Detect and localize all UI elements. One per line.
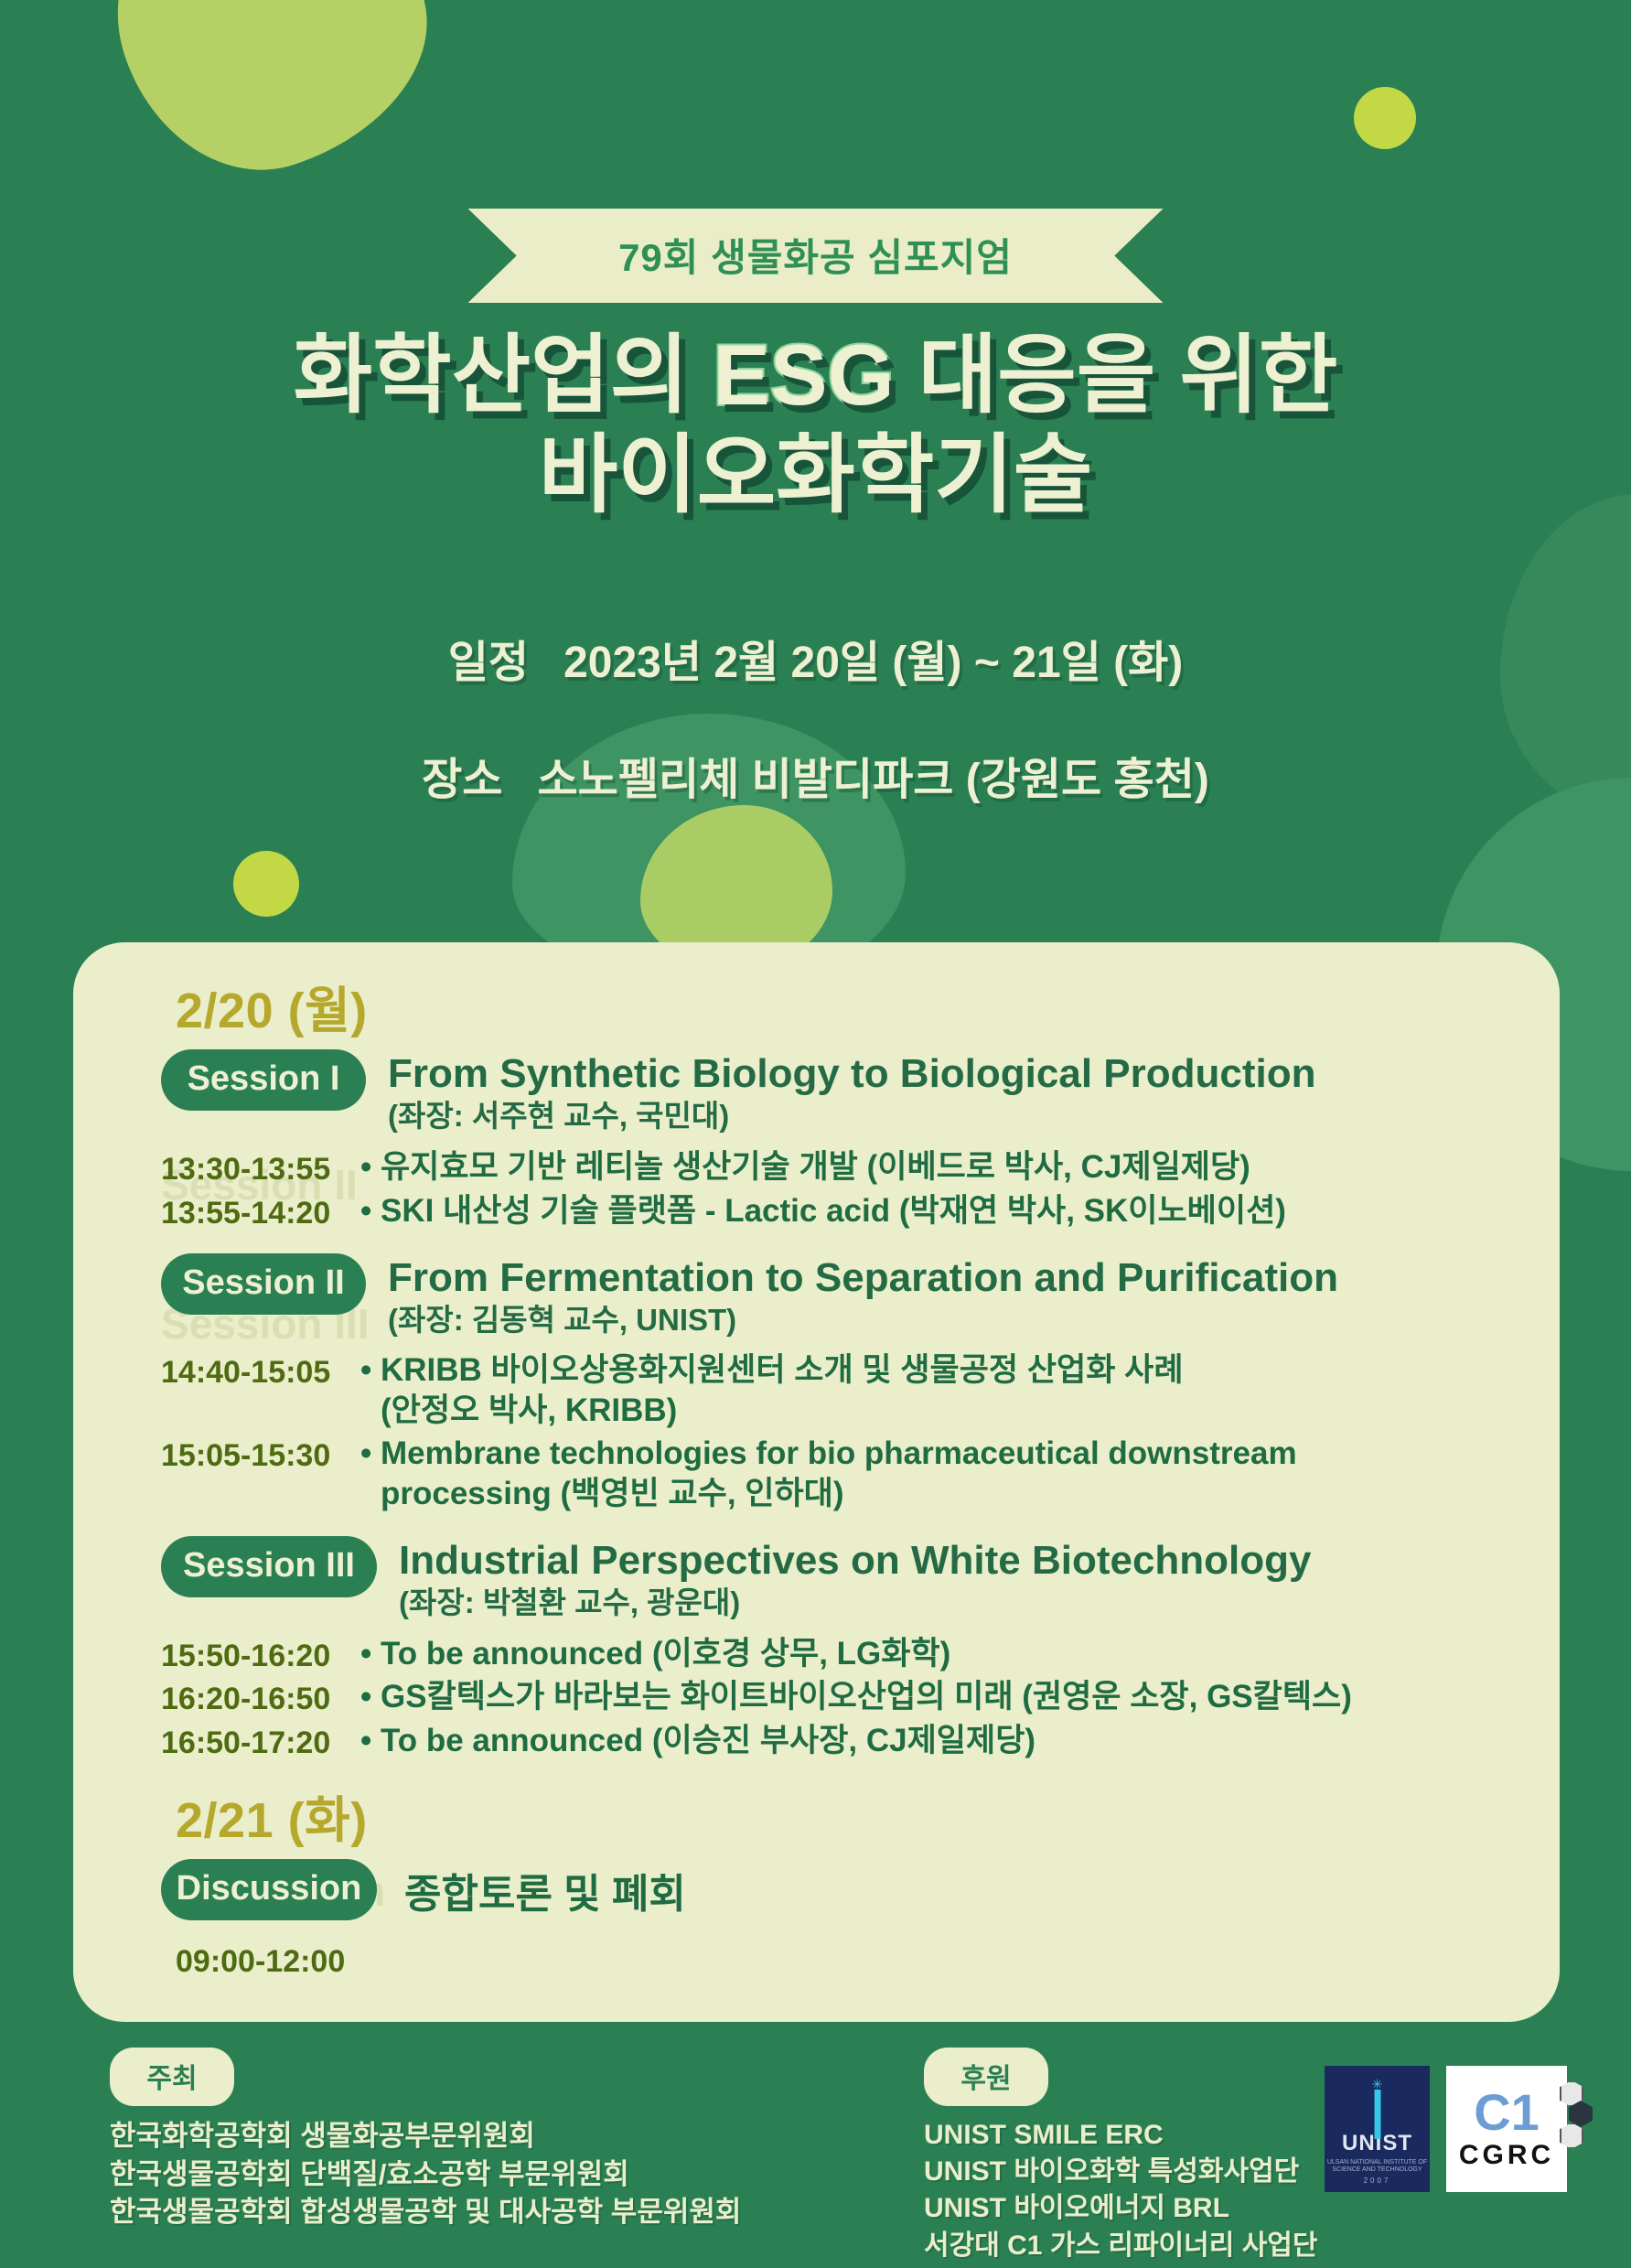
decorative-dot-mid-left [233, 851, 299, 917]
session-title-2: From Fermentation to Separation and Puri… [388, 1255, 1338, 1300]
talk-row: 15:05-15:30 • Membrane technologies for … [161, 1434, 1560, 1514]
host-org-list: 한국화학공학회 생물화공부문위원회 한국생물공학회 단백질/효소공학 부문위원회… [110, 2117, 741, 2231]
unist-logo-subtitle: ULSAN NATIONAL INSTITUTE OF SCIENCE AND … [1325, 2159, 1430, 2176]
title-line-1: 화학산업의 ESG 대응을 위한 [0, 325, 1631, 425]
session-chair-2: (좌장: 김동혁 교수, UNIST) [388, 1302, 1338, 1338]
talk-title: • To be announced (이승진 부사장, CJ제일제당) [355, 1721, 1035, 1761]
talk-list-1: 13:30-13:55 • 유지효모 기반 레티놀 생산기술 개발 (이베드로 … [161, 1147, 1560, 1233]
talk-title: • To be announced (이호경 상무, LG화학) [355, 1634, 950, 1674]
unist-logo-year: 2007 [1364, 2177, 1391, 2185]
event-date-row: 일정2023년 2월 20일 (월) ~ 21일 (화) [0, 640, 1631, 686]
talk-title: • GS칼텍스가 바라보는 화이트바이오산업의 미래 (권영운 소장, GS칼텍… [355, 1677, 1352, 1717]
session-title-group-3: Industrial Perspectives on White Biotech… [399, 1536, 1312, 1621]
talk-time: 15:05-15:30 [161, 1434, 355, 1476]
talk-title-group: • KRIBB 바이오상용화지원센터 소개 및 생물공정 산업화 사례 (안정오… [355, 1350, 1184, 1431]
date-value: 2023년 2월 20일 (월) ~ 21일 (화) [563, 639, 1183, 687]
session-block-1: Session I From Synthetic Biology to Biol… [73, 1049, 1560, 1233]
host-org-item: 한국화학공학회 생물화공부문위원회 [110, 2117, 741, 2155]
schedule-card: Session II Session III Discussion 2/20 (… [73, 942, 1560, 2022]
talk-title-continued: processing (백영빈 교수, 인하대) [355, 1474, 1297, 1514]
talk-time: 16:50-17:20 [161, 1721, 355, 1763]
session-title-3: Industrial Perspectives on White Biotech… [399, 1538, 1312, 1583]
session-pill-2[interactable]: Session II [161, 1253, 366, 1315]
c1-cgrc-logo: C1 CGRC [1446, 2066, 1567, 2192]
discussion-block: Discussion 종합토론 및 폐회 [73, 1859, 1560, 1920]
host-tag: 주최 [110, 2048, 234, 2106]
session-header-2: Session II From Fermentation to Separati… [161, 1253, 1560, 1338]
event-meta: 일정2023년 2월 20일 (월) ~ 21일 (화) 장소소노펠리체 비발디… [0, 640, 1631, 804]
host-org-item: 한국생물공학회 단백질/효소공학 부문위원회 [110, 2155, 741, 2194]
talk-list-3: 15:50-16:20 • To be announced (이호경 상무, L… [161, 1634, 1560, 1763]
sponsor-org-item: UNIST 바이오에너지 BRL [924, 2190, 1318, 2227]
session-chair-3: (좌장: 박철환 교수, 광운대) [399, 1585, 1312, 1621]
title-line-1-prefix: 화학산업의 [294, 327, 714, 423]
unist-bar-icon [1374, 2090, 1380, 2139]
date-label: 일정 [448, 640, 529, 686]
session-title-1: From Synthetic Biology to Biological Pro… [388, 1051, 1315, 1096]
talk-time: 14:40-15:05 [161, 1350, 355, 1392]
session-block-3: Session III Industrial Perspectives on W… [73, 1536, 1560, 1763]
sponsor-tag: 후원 [924, 2048, 1048, 2106]
talk-title-continued: (안정오 박사, KRIBB) [355, 1391, 1184, 1431]
sponsor-org-list: UNIST SMILE ERC UNIST 바이오화학 특성화사업단 UNIST… [924, 2117, 1318, 2264]
ribbon-banner: 79회 생물화공 심포지엄 [0, 209, 1631, 303]
talk-row: 13:30-13:55 • 유지효모 기반 레티놀 생산기술 개발 (이베드로 … [161, 1147, 1560, 1189]
session-chair-1: (좌장: 서주현 교수, 국민대) [388, 1098, 1315, 1134]
talk-row: 13:55-14:20 • SKI 내산성 기술 플랫폼 - Lactic ac… [161, 1191, 1560, 1233]
talk-title: • SKI 내산성 기술 플랫폼 - Lactic acid (박재연 박사, … [355, 1191, 1286, 1231]
talk-time: 13:30-13:55 [161, 1147, 355, 1189]
cgrc-logo-text: CGRC [1459, 2140, 1554, 2171]
decorative-dot-top-right [1354, 87, 1416, 149]
place-label: 장소 [422, 758, 502, 803]
talk-row: 14:40-15:05 • KRIBB 바이오상용화지원센터 소개 및 생물공정… [161, 1350, 1560, 1431]
poster-title: 화학산업의 ESG 대응을 위한 바이오화학기술 [0, 325, 1631, 524]
session-title-group-2: From Fermentation to Separation and Puri… [388, 1253, 1338, 1338]
talk-time: 13:55-14:20 [161, 1191, 355, 1233]
title-line-2: 바이오화학기술 [0, 425, 1631, 524]
event-place-row: 장소소노펠리체 비발디파크 (강원도 홍천) [0, 758, 1631, 803]
host-column: 주최 한국화학공학회 생물화공부문위원회 한국생물공학회 단백질/효소공학 부문… [110, 2048, 741, 2231]
ribbon-label: 79회 생물화공 심포지엄 [468, 209, 1164, 303]
talk-time: 16:20-16:50 [161, 1677, 355, 1719]
talk-list-2: 14:40-15:05 • KRIBB 바이오상용화지원센터 소개 및 생물공정… [161, 1350, 1560, 1513]
host-org-item: 한국생물공학회 합성생물공학 및 대사공학 부문위원회 [110, 2193, 741, 2231]
sponsor-org-item: UNIST SMILE ERC [924, 2117, 1318, 2154]
discussion-header: Discussion 종합토론 및 폐회 [161, 1859, 1560, 1920]
session-block-2: Session II From Fermentation to Separati… [73, 1253, 1560, 1514]
unist-logo: ✳ UNIST ULSAN NATIONAL INSTITUTE OF SCIE… [1325, 2066, 1430, 2192]
talk-title: • 유지효모 기반 레티놀 생산기술 개발 (이베드로 박사, CJ제일제당) [355, 1147, 1250, 1188]
sponsor-logos: ✳ UNIST ULSAN NATIONAL INSTITUTE OF SCIE… [1325, 2066, 1567, 2192]
meta-spacer [0, 686, 1631, 758]
talk-time: 15:50-16:20 [161, 1634, 355, 1676]
c1-logo-text: C1 [1474, 2087, 1540, 2138]
poster-footer: 주최 한국화학공학회 생물화공부문위원회 한국생물공학회 단백질/효소공학 부문… [0, 2048, 1631, 2268]
talk-title: • Membrane technologies for bio pharmace… [355, 1434, 1297, 1474]
talk-row: 15:50-16:20 • To be announced (이호경 상무, L… [161, 1634, 1560, 1676]
title-esg-highlight: ESG [713, 327, 895, 423]
day-header-2: 2/21 (화) [176, 1779, 1560, 1852]
title-line-1-suffix: 대응을 위한 [895, 327, 1338, 423]
session-header-1: Session I From Synthetic Biology to Biol… [161, 1049, 1560, 1134]
sponsor-org-item: 서강대 C1 가스 리파이너리 사업단 [924, 2228, 1318, 2264]
talk-row: 16:20-16:50 • GS칼텍스가 바라보는 화이트바이오산업의 미래 (… [161, 1677, 1560, 1719]
talk-title: • KRIBB 바이오상용화지원센터 소개 및 생물공정 산업화 사례 [355, 1350, 1184, 1391]
day-header-1: 2/20 (월) [176, 970, 1560, 1042]
decorative-blob-top-left [80, 0, 460, 204]
session-pill-3[interactable]: Session III [161, 1536, 377, 1597]
session-title-group-1: From Synthetic Biology to Biological Pro… [388, 1049, 1315, 1134]
discussion-time: 09:00-12:00 [176, 1944, 1560, 1980]
session-header-3: Session III Industrial Perspectives on W… [161, 1536, 1560, 1621]
place-value: 소노펠리체 비발디파크 (강원도 홍천) [537, 756, 1208, 804]
discussion-pill[interactable]: Discussion [161, 1859, 377, 1920]
discussion-title: 종합토론 및 폐회 [404, 1861, 686, 1919]
session-pill-1[interactable]: Session I [161, 1049, 366, 1111]
talk-title-group: • Membrane technologies for bio pharmace… [355, 1434, 1297, 1514]
sponsor-org-item: UNIST 바이오화학 특성화사업단 [924, 2154, 1318, 2190]
sponsor-column: 후원 UNIST SMILE ERC UNIST 바이오화학 특성화사업단 UN… [924, 2048, 1318, 2264]
talk-row: 16:50-17:20 • To be announced (이승진 부사장, … [161, 1721, 1560, 1763]
